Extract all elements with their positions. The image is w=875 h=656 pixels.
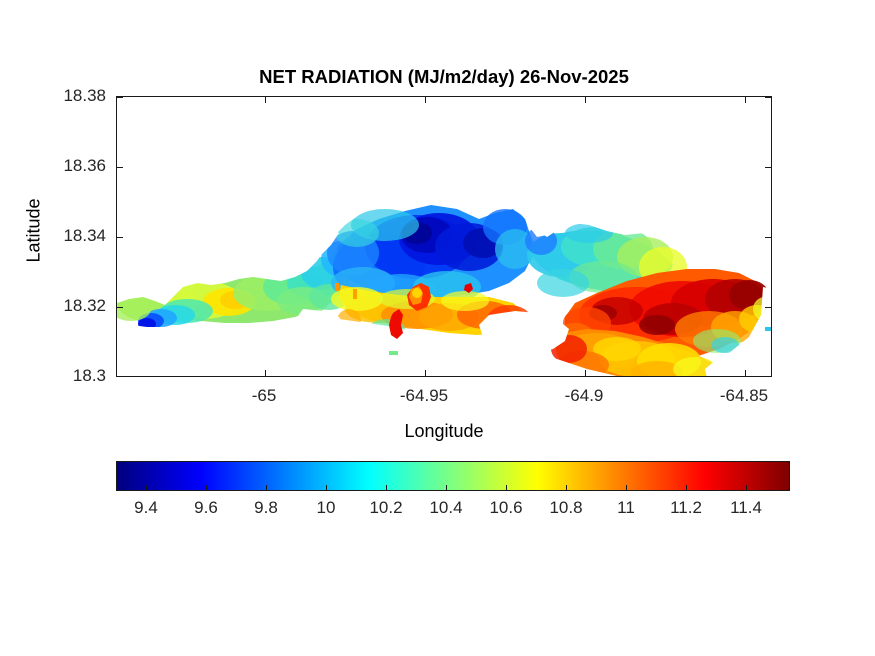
colorbar-tick [266,485,267,491]
colorbar-label: 9.8 [254,498,278,518]
xtick-label: -64.9 [565,386,604,406]
page-title: NET RADIATION (MJ/m2/day) 26-Nov-2025 [116,66,772,88]
xtick-mark [425,97,426,103]
xtick-label: -64.95 [400,386,448,406]
ytick-label: 18.3 [42,366,106,386]
colorbar-gradient [116,461,790,491]
ytick-label: 18.32 [42,296,106,316]
colorbar-tick [446,485,447,491]
xtick-mark [585,97,586,103]
colorbar-label: 10.2 [369,498,402,518]
xtick-mark [585,370,586,376]
xtick-label: -65 [252,386,277,406]
ytick-mark [765,237,771,238]
ytick-mark [765,307,771,308]
colorbar-label: 9.6 [194,498,218,518]
xtick-mark [265,97,266,103]
colorbar-label: 9.4 [134,498,158,518]
colorbar-tick [326,485,327,491]
xtick-mark [265,370,266,376]
ytick-mark [117,307,123,308]
ytick-mark [117,167,123,168]
xtick-mark [425,370,426,376]
colorbar-tick [206,485,207,491]
colorbar-label: 10.8 [549,498,582,518]
ytick-mark [117,237,123,238]
net-radiation-heatmap [117,97,772,377]
colorbar-label: 11.2 [670,498,702,518]
xtick-mark [745,370,746,376]
ytick-mark [117,97,123,98]
ytick-label: 18.34 [42,226,106,246]
colorbar-label: 10 [317,498,336,518]
colorbar-tick [506,485,507,491]
colorbar-tick [626,485,627,491]
colorbar-tick [146,485,147,491]
ytick-mark [765,167,771,168]
colorbar-label: 10.6 [489,498,522,518]
colorbar-tick [746,485,747,491]
x-axis-label: Longitude [116,421,772,442]
ytick-mark [765,97,771,98]
ytick-label: 18.36 [42,156,106,176]
colorbar-label: 10.4 [429,498,462,518]
ytick-label: 18.38 [42,86,106,106]
y-axis-label: Latitude [24,131,45,331]
matlab-figure: NET RADIATION (MJ/m2/day) 26-Nov-2025 [0,0,875,656]
xtick-mark [745,97,746,103]
colorbar [116,461,790,491]
xtick-label: -64.85 [720,386,768,406]
colorbar-label: 11.4 [730,498,762,518]
colorbar-tick [686,485,687,491]
colorbar-label: 11 [617,498,635,518]
colorbar-tick [386,485,387,491]
colorbar-tick [566,485,567,491]
map-axes [116,96,772,377]
